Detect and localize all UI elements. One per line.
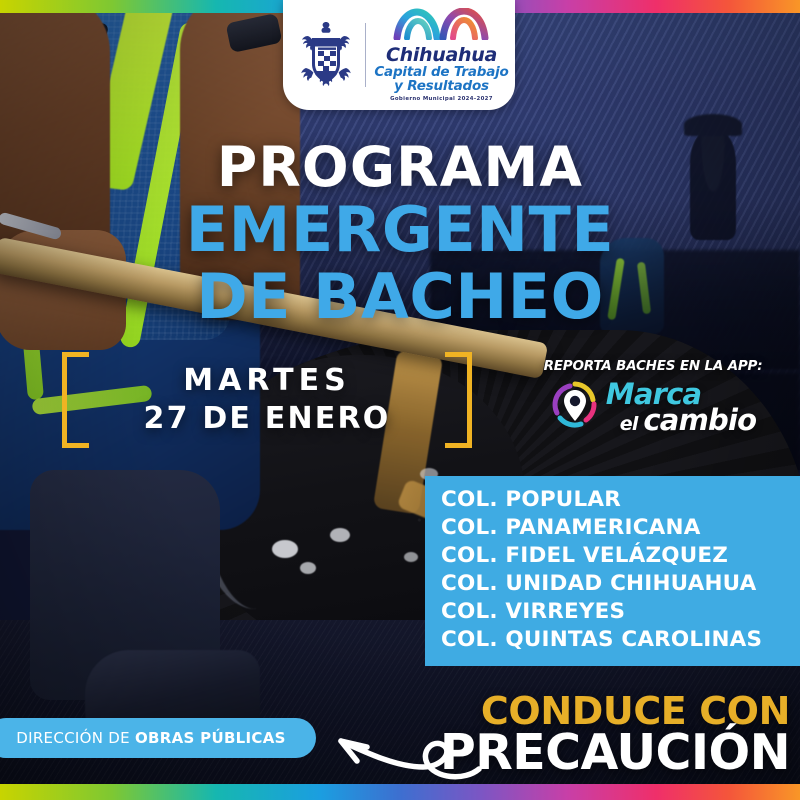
chihuahua-brand-lockup: Chihuahua Capital de Trabajo y Resultado… xyxy=(374,8,508,102)
list-item: COL. PANAMERICANA xyxy=(441,514,800,542)
date-full: 27 DE ENERO xyxy=(89,402,445,437)
chihuahua-mountains-arcs-icon xyxy=(393,8,489,44)
brand-government-period: Gobierno Municipal 2024-2027 xyxy=(390,97,493,102)
poster-canvas: Chihuahua Capital de Trabajo y Resultado… xyxy=(0,0,800,800)
department-badge: DIRECCIÓN DE OBRAS PÚBLICAS xyxy=(0,718,316,758)
coat-of-arms-icon xyxy=(289,18,363,92)
date-weekday: MARTES xyxy=(89,364,445,399)
date-text: MARTES 27 DE ENERO xyxy=(89,364,445,436)
app-name-cambio: cambio xyxy=(643,403,756,437)
caution-block: CONDUCE CON PRECAUCIÓN xyxy=(440,693,790,777)
location-pin-icon xyxy=(550,380,600,435)
brand-tagline-line1: Capital de Trabajo xyxy=(374,66,508,80)
app-name-part2: el cambio xyxy=(620,408,756,434)
headline-line-2: EMERGENTE xyxy=(0,197,800,264)
list-item: COL. POPULAR xyxy=(441,486,800,514)
headline-block: PROGRAMA EMERGENTE DE BACHEO xyxy=(0,140,800,331)
bracket-right-icon xyxy=(445,352,472,448)
brand-name: Chihuahua xyxy=(386,46,497,65)
government-logo-card: Chihuahua Capital de Trabajo y Resultado… xyxy=(283,0,515,110)
gradient-bar-bottom xyxy=(0,784,800,800)
logo-divider xyxy=(365,23,366,87)
caution-line-2: PRECAUCIÓN xyxy=(440,729,790,777)
marca-el-cambio-logo[interactable]: Marca el cambio xyxy=(528,380,778,435)
app-name-article: el xyxy=(620,413,644,435)
brand-tagline-line2: y Resultados xyxy=(394,80,489,94)
list-item: COL. FIDEL VELÁZQUEZ xyxy=(441,542,800,570)
bracket-left-icon xyxy=(62,352,89,448)
curved-arrow-left-icon xyxy=(315,705,485,790)
app-wordmark: Marca el cambio xyxy=(606,382,756,433)
list-item: COL. VIRREYES xyxy=(441,598,800,626)
headline-line-3: DE BACHEO xyxy=(0,264,800,331)
list-item: COL. UNIDAD CHIHUAHUA xyxy=(441,570,800,598)
app-promo-block: REPORTA BACHES EN LA APP: Marca el cambi… xyxy=(528,358,778,435)
department-label: DIRECCIÓN DE OBRAS PÚBLICAS xyxy=(16,729,286,747)
department-name: OBRAS PÚBLICAS xyxy=(135,729,286,747)
headline-line-1: PROGRAMA xyxy=(0,140,800,195)
app-promo-title: REPORTA BACHES EN LA APP: xyxy=(528,358,778,374)
colonias-panel: COL. POPULAR COL. PANAMERICANA COL. FIDE… xyxy=(425,476,800,666)
list-item: COL. QUINTAS CAROLINAS xyxy=(441,626,800,654)
date-block: MARTES 27 DE ENERO xyxy=(62,352,472,448)
department-prefix: DIRECCIÓN DE xyxy=(16,729,135,747)
